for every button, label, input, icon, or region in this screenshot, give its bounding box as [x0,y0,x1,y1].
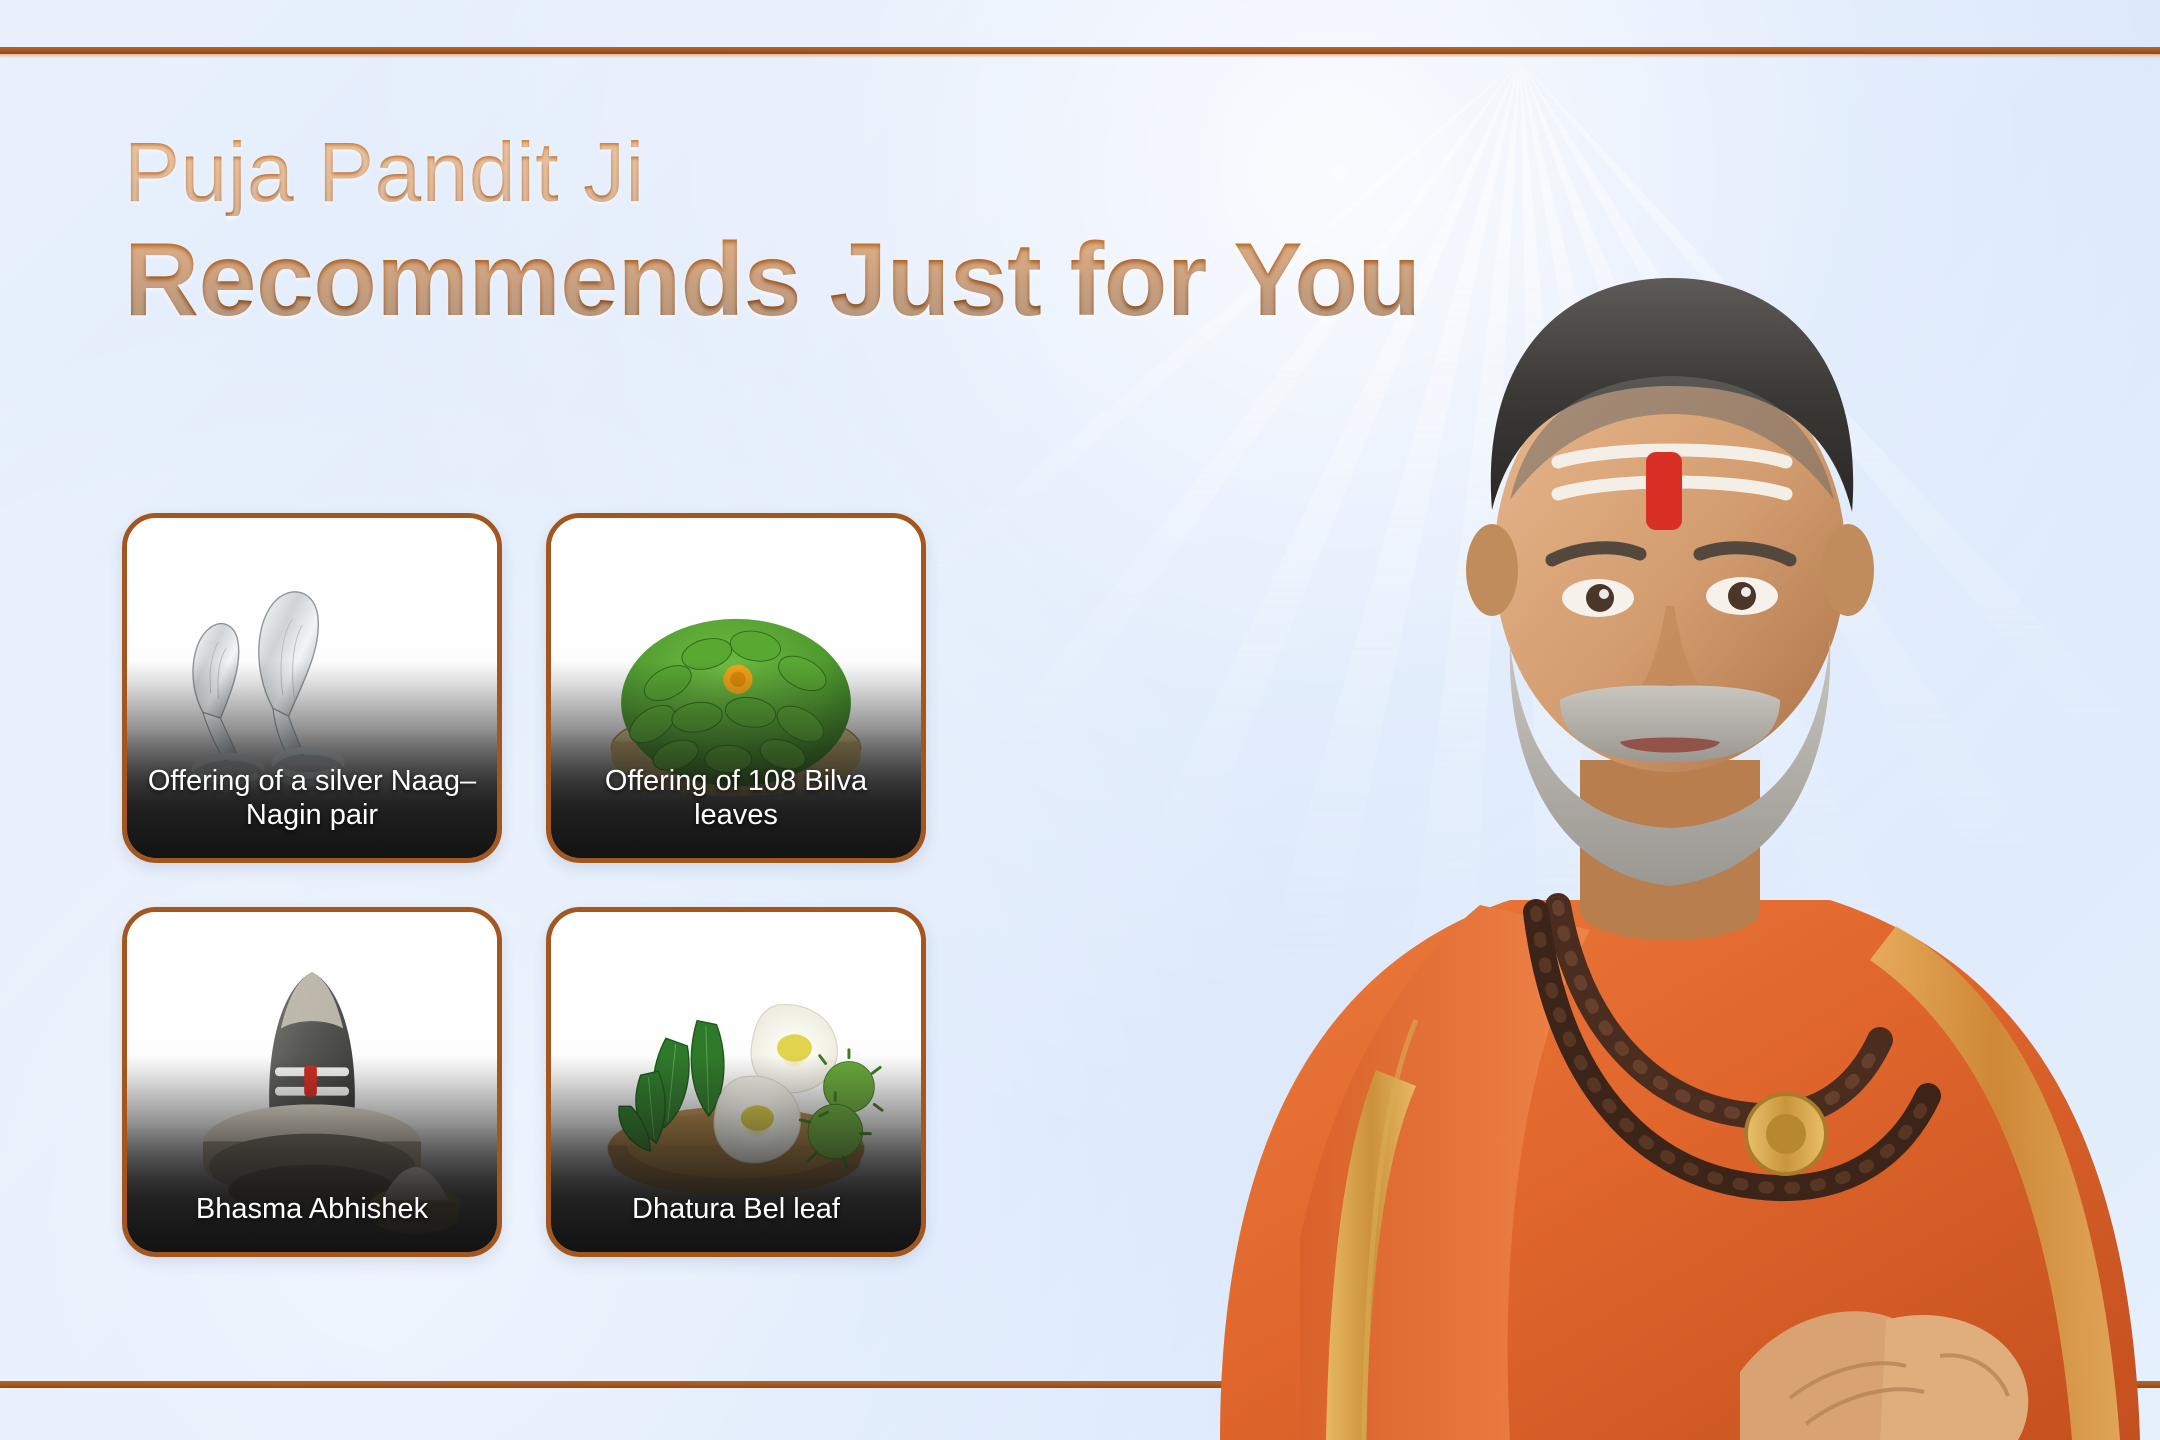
headline-block: Puja Pandit Ji Recommends Just for You [124,130,1544,335]
card-naag-nagin[interactable]: Offering of a silver Naag–Nagin pair [122,513,502,863]
top-divider-rule [0,47,2160,54]
card-naag-nagin-caption: Offering of a silver Naag–Nagin pair [139,764,485,832]
recommendation-card-grid: Offering of a silver Naag–Nagin pair [122,513,926,1257]
bottom-divider-rule [0,1381,2160,1388]
card-bhasma-abhishek-caption: Bhasma Abhishek [139,1192,485,1226]
card-bilva-leaves-caption: Offering of 108 Bilva leaves [563,764,909,832]
card-dhatura-bel-leaf-caption: Dhatura Bel leaf [563,1192,909,1226]
card-bilva-leaves[interactable]: Offering of 108 Bilva leaves [546,513,926,863]
headline-line-2: Recommends Just for You [124,226,1544,335]
card-dhatura-bel-leaf[interactable]: Dhatura Bel leaf [546,907,926,1257]
headline-line-1: Puja Pandit Ji [124,130,1544,216]
card-bhasma-abhishek[interactable]: Bhasma Abhishek [122,907,502,1257]
promo-banner: Puja Pandit Ji Recommends Just for You [0,0,2160,1440]
